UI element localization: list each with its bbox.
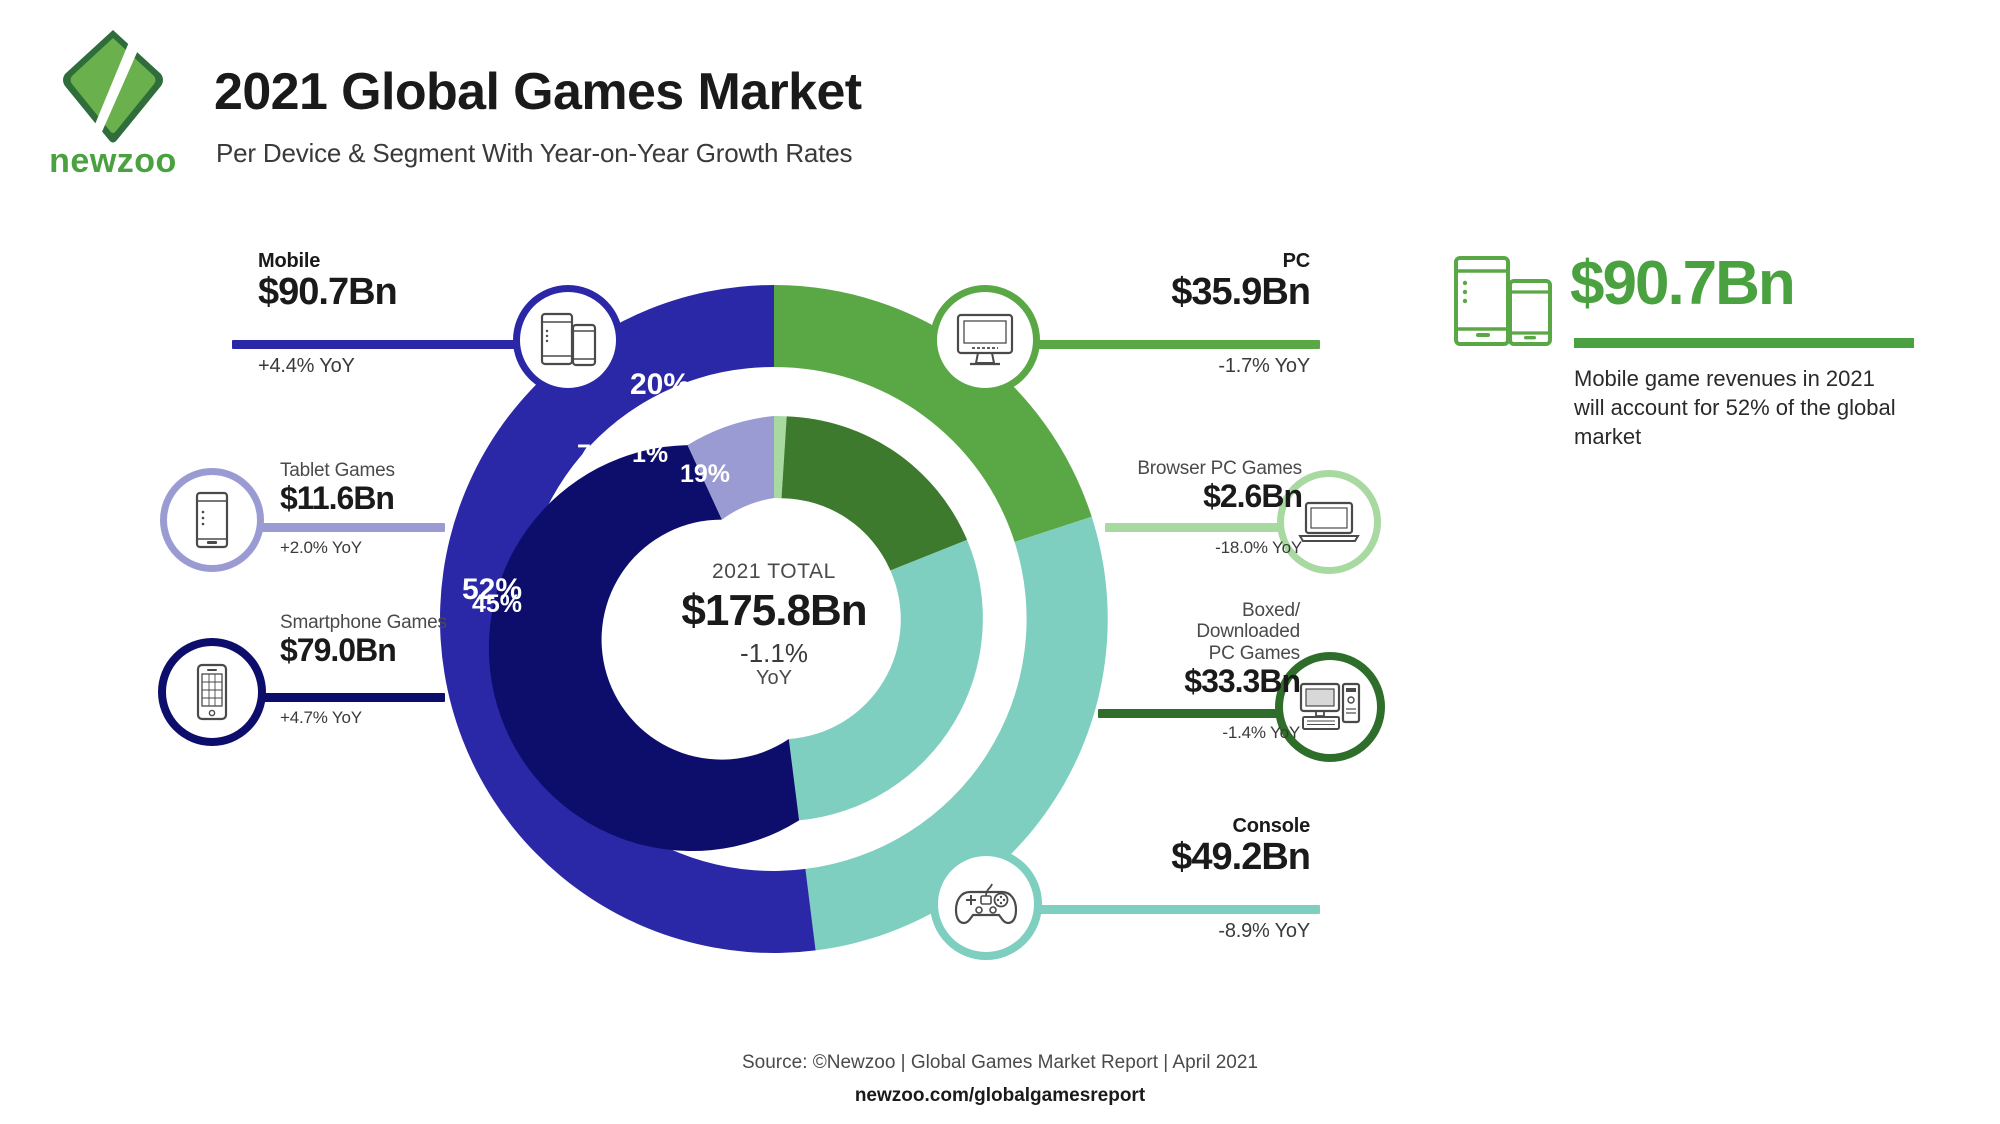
page-subtitle: Per Device & Segment With Year-on-Year G…: [216, 138, 852, 169]
browser-pc-value: $2.6Bn: [1080, 479, 1302, 514]
browser-pc-connector-line: [1105, 523, 1305, 532]
boxed-pc-label-group: Boxed/ Downloaded PC Games $33.3Bn: [1060, 600, 1300, 698]
pc-value: $35.9Bn: [1060, 272, 1310, 313]
pc-yoy-group: -1.7% YoY: [1060, 355, 1310, 378]
highlight-underline: [1574, 338, 1914, 348]
browser-pc-label-group: Browser PC Games $2.6Bn: [1080, 458, 1302, 514]
smartphone-icon: [194, 662, 230, 722]
tablet-bubble[interactable]: [160, 468, 264, 572]
mobile-label-group: Mobile $90.7Bn: [258, 250, 528, 313]
pc-connector-line: [1020, 340, 1320, 349]
smartphone-yoy: +4.7% YoY: [280, 708, 510, 728]
donut-center-block: 2021 TOTAL $175.8Bn -1.1% YoY: [654, 560, 894, 690]
pc-yoy: -1.7% YoY: [1060, 355, 1310, 378]
console-value: $49.2Bn: [1060, 837, 1310, 878]
highlight-phone-tablet-icon: [1452, 255, 1562, 347]
boxed-pc-yoy: -1.4% YoY: [1060, 723, 1300, 743]
newzoo-logo: newzoo: [48, 28, 178, 181]
highlight-value: $90.7Bn: [1570, 248, 1794, 319]
mobile-category: Mobile: [258, 250, 528, 272]
infographic-canvas: newzoo 2021 Global Games Market Per Devi…: [0, 0, 2000, 1124]
tablet-label-group: Tablet Games $11.6Bn: [280, 460, 500, 516]
tablet-icon: [192, 490, 232, 550]
smartphone-label-group: Smartphone Games $79.0Bn: [280, 612, 510, 668]
smartphone-bubble[interactable]: [158, 638, 266, 746]
tablet-value: $11.6Bn: [280, 481, 500, 516]
browser-pc-category: Browser PC Games: [1080, 458, 1302, 479]
donut-center-yoy-unit: YoY: [654, 667, 894, 690]
page-title: 2021 Global Games Market: [214, 62, 861, 122]
newzoo-wordmark: newzoo: [48, 142, 178, 181]
inner-segment-boxed-pc: [782, 416, 968, 570]
boxed-pc-connector-line: [1098, 709, 1298, 718]
pc-category: PC: [1060, 250, 1310, 272]
donut-center-yoy: -1.1%: [654, 638, 894, 669]
mobile-value: $90.7Bn: [258, 272, 528, 313]
source-url[interactable]: newzoo.com/globalgamesreport: [0, 1085, 2000, 1107]
pct-outer-pc: 20%: [630, 368, 690, 402]
mobile-bubble[interactable]: [513, 285, 623, 395]
pct-inner-browser-pc: 1%: [632, 440, 668, 469]
highlight-text: Mobile game revenues in 2021 will accoun…: [1574, 364, 1904, 451]
browser-pc-yoy-group: -18.0% YoY: [1080, 538, 1302, 558]
mobile-yoy: +4.4% YoY: [258, 355, 528, 378]
tablet-yoy: +2.0% YoY: [280, 538, 500, 558]
console-category: Console: [1060, 815, 1310, 837]
console-yoy: -8.9% YoY: [1060, 920, 1310, 943]
pct-inner-tablet: 7%: [577, 440, 613, 469]
console-yoy-group: -8.9% YoY: [1060, 920, 1310, 943]
monitor-icon: [954, 312, 1016, 368]
desktop-tower-icon: [1298, 681, 1362, 733]
boxed-pc-category: Boxed/ Downloaded PC Games: [1060, 600, 1300, 664]
smartphone-yoy-group: +4.7% YoY: [280, 708, 510, 728]
newzoo-diamond-logo-icon: [61, 28, 165, 148]
smartphone-category: Smartphone Games: [280, 612, 510, 633]
phone-tablet-icon: [537, 311, 599, 369]
donut-center-total: $175.8Bn: [654, 586, 894, 636]
pct-inner-boxed-pc: 19%: [680, 460, 730, 489]
mobile-connector-line: [232, 340, 532, 349]
boxed-pc-yoy-group: -1.4% YoY: [1060, 723, 1300, 743]
source-text: Source: ©Newzoo | Global Games Market Re…: [0, 1052, 2000, 1074]
pc-bubble[interactable]: [930, 285, 1040, 395]
tablet-yoy-group: +2.0% YoY: [280, 538, 500, 558]
smartphone-value: $79.0Bn: [280, 633, 510, 668]
console-label-group: Console $49.2Bn: [1060, 815, 1310, 878]
tablet-category: Tablet Games: [280, 460, 500, 481]
donut-center-label: 2021 TOTAL: [654, 560, 894, 584]
laptop-icon: [1298, 500, 1360, 544]
console-connector-line: [1020, 905, 1320, 914]
console-bubble[interactable]: [930, 848, 1042, 960]
gamepad-icon: [953, 882, 1019, 926]
boxed-pc-value: $33.3Bn: [1060, 664, 1300, 699]
mobile-yoy-group: +4.4% YoY: [258, 355, 528, 378]
browser-pc-yoy: -18.0% YoY: [1080, 538, 1302, 558]
pc-label-group: PC $35.9Bn: [1060, 250, 1310, 313]
